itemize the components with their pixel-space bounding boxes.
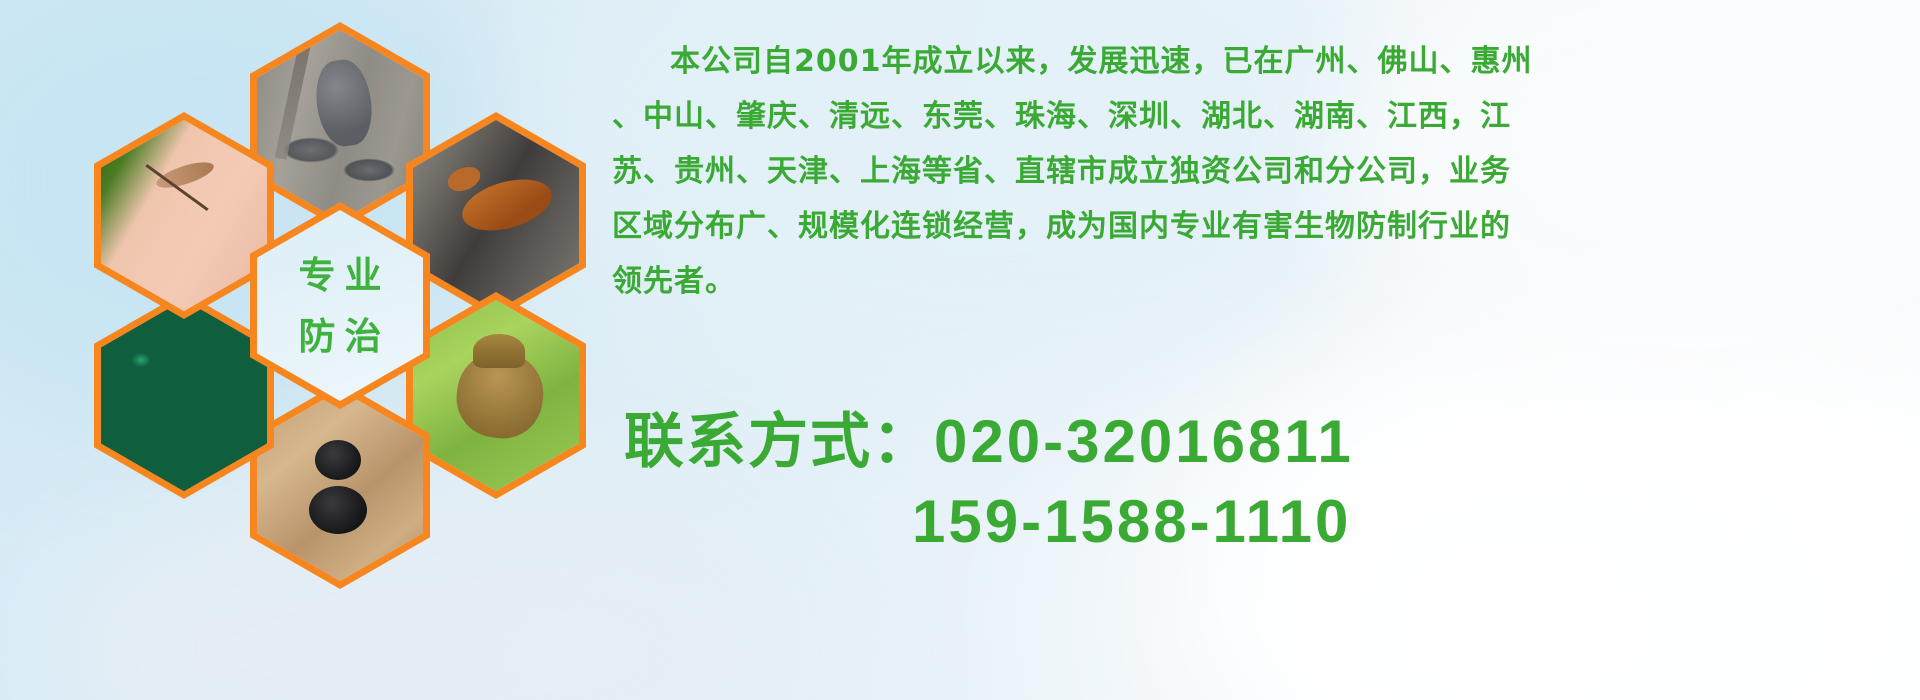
slogan-line-2: 防治 (290, 318, 391, 355)
company-description: 本公司自2001年成立以来，发展迅速，已在广州、佛山、惠州 、中山、肇庆、清远、… (612, 34, 1892, 309)
description-line-5: 领先者。 (612, 254, 1892, 309)
flies-photo-icon (101, 300, 267, 491)
description-line-4: 区域分布广、规模化连锁经营，成为国内专业有害生物防制行业的 (612, 199, 1892, 254)
hex-cell-rats[interactable] (250, 22, 430, 229)
description-line-1: 本公司自2001年成立以来，发展迅速，已在广州、佛山、惠州 (612, 34, 1892, 89)
contact-label: 联系方式： (624, 407, 934, 477)
hex-cell-ant[interactable] (250, 382, 430, 589)
hex-cell-stink-bug[interactable] (406, 292, 586, 499)
promo-banner: 专业 防治 本公司自2001年成立以来，发展迅速，已在广州、佛山、惠州 、中山、… (0, 0, 1920, 700)
hex-cell-flies[interactable] (94, 292, 274, 499)
phone-primary[interactable]: 020-32016811 (934, 408, 1354, 475)
honeycomb-image-cluster: 专业 防治 (90, 8, 590, 568)
hex-cell-mosquito[interactable] (94, 112, 274, 319)
description-line-2: 、中山、肇庆、清远、东莞、珠海、深圳、湖北、湖南、江西，江 (612, 89, 1892, 144)
stink-bug-photo-icon (413, 300, 579, 491)
cockroach-photo-icon (413, 120, 579, 311)
contact-block: 联系方式：020-32016811 159-1588-1110 (624, 402, 1914, 562)
mosquito-photo-icon (101, 120, 267, 311)
slogan-line-1: 专业 (290, 257, 391, 294)
hex-cell-slogan: 专业 防治 (250, 202, 430, 409)
hex-cell-cockroach[interactable] (406, 112, 586, 319)
phone-secondary[interactable]: 159-1588-1110 (912, 488, 1351, 555)
contact-primary-row: 联系方式：020-32016811 (624, 402, 1914, 482)
ant-photo-icon (257, 390, 423, 581)
contact-secondary-row: 159-1588-1110 (624, 482, 1914, 562)
rats-photo-icon (257, 30, 423, 221)
description-line-3: 苏、贵州、天津、上海等省、直辖市成立独资公司和分公司，业务 (612, 144, 1892, 199)
